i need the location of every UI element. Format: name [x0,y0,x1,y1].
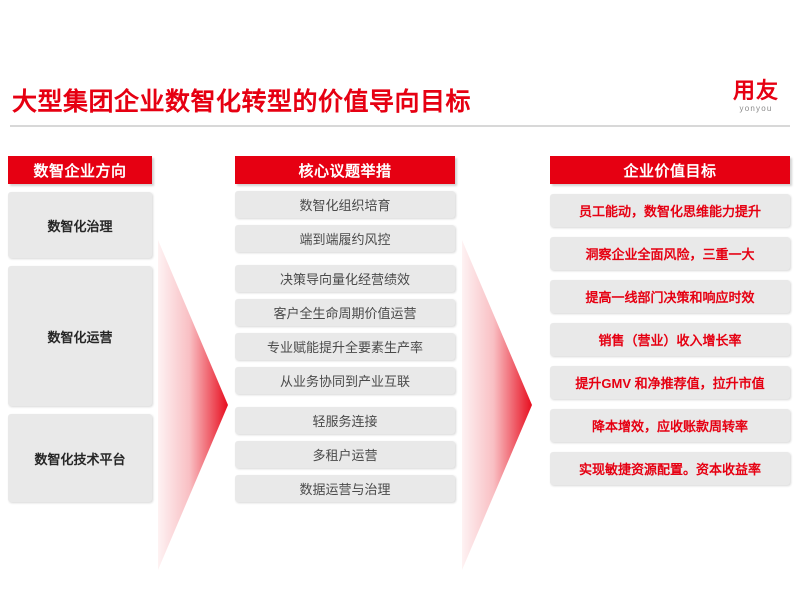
direction-item-tech-platform[interactable]: 数智化技术平台 [8,414,152,502]
column-header-direction: 数智企业方向 [8,156,152,184]
direction-item-governance[interactable]: 数智化治理 [8,192,152,258]
topic-item-industry-interconnection[interactable]: 从业务协同到产业互联 [235,367,455,394]
value-item-employee-initiative[interactable]: 员工能动，数智化思维能力提升 [550,194,790,227]
topic-item-data-governance[interactable]: 数据运营与治理 [235,475,455,502]
column-header-value: 企业价值目标 [550,156,790,184]
brand-mark: 用友 [720,80,792,103]
value-item-revenue-growth[interactable]: 销售（营业）收入增长率 [550,323,790,356]
topic-item-org-cultivation[interactable]: 数智化组织培育 [235,191,455,218]
direction-item-operations[interactable]: 数智化运营 [8,266,152,406]
slide-canvas: 大型集团企业数智化转型的价值导向目标 用友 yonyou 数智企业方向 数智化治… [0,0,800,600]
value-item-gmv-nps[interactable]: 提升GMV 和净推荐值，拉升市值 [550,366,790,399]
brand-logo: 用友 yonyou [720,80,792,113]
page-title: 大型集团企业数智化转型的价值导向目标 [12,82,471,118]
column-core-topics: 核心议题举措 数智化组织培育 端到端履约风控 决策导向量化经营绩效 客户全生命周… [235,156,455,502]
value-item-cost-reduction[interactable]: 降本增效，应收账款周转率 [550,409,790,442]
value-item-risk-insight[interactable]: 洞察企业全面风险，三重一大 [550,237,790,270]
value-item-frontline-response[interactable]: 提高一线部门决策和响应时效 [550,280,790,313]
topic-item-light-service[interactable]: 轻服务连接 [235,407,455,434]
topic-item-factor-productivity[interactable]: 专业赋能提升全要素生产率 [235,333,455,360]
column-header-topics: 核心议题举措 [235,156,455,184]
column-enterprise-direction: 数智企业方向 数智化治理 数智化运营 数智化技术平台 [8,156,152,502]
topic-item-multi-tenant[interactable]: 多租户运营 [235,441,455,468]
brand-wordmark: yonyou [720,104,792,113]
topic-item-e2e-risk-control[interactable]: 端到端履约风控 [235,225,455,252]
title-divider [10,125,790,127]
topic-item-customer-lifecycle[interactable]: 客户全生命周期价值运营 [235,299,455,326]
arrow-direction-to-topics-icon [158,240,228,570]
value-item-capital-return[interactable]: 实现敏捷资源配置。资本收益率 [550,452,790,485]
column-enterprise-value-goals: 企业价值目标 员工能动，数智化思维能力提升 洞察企业全面风险，三重一大 提高一线… [550,156,790,485]
topic-item-quantified-performance[interactable]: 决策导向量化经营绩效 [235,265,455,292]
arrow-topics-to-value-icon [462,240,532,570]
